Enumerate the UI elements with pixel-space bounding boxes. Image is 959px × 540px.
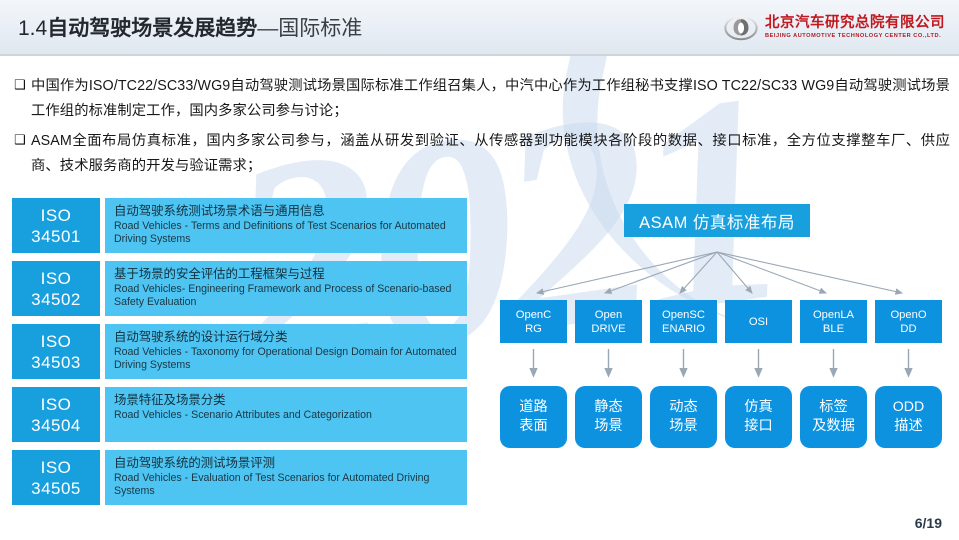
asam-standard-line2: DD (900, 323, 916, 335)
asam-standard-line2: ENARIO (662, 323, 705, 335)
asam-domain-line2: 描述 (894, 418, 922, 434)
asam-standard-line1: OSI (749, 316, 768, 328)
asam-standard-line2: DRIVE (591, 323, 625, 335)
iso-title-cn: 场景特征及场景分类 (114, 392, 459, 408)
fan-out-arrows (490, 236, 950, 306)
iso-org-label: ISO (41, 268, 72, 289)
iso-title-en: Road Vehicles- Engineering Framework and… (114, 283, 459, 309)
asam-standard-box[interactable]: OSI (725, 300, 792, 343)
iso-title-cn: 自动驾驶系统的测试场景评测 (114, 455, 459, 471)
iso-standards-table: ISO 34501 自动驾驶系统测试场景术语与通用信息 Road Vehicle… (12, 198, 467, 513)
page-title-number: 1.4 (18, 17, 47, 40)
bullet-text: 中国作为ISO/TC22/SC33/WG9自动驾驶测试场景国际标准工作组召集人，… (31, 74, 950, 124)
iso-code-cell: ISO 34503 (12, 324, 100, 379)
iso-number-label: 34502 (31, 289, 81, 310)
iso-title-en: Road Vehicles - Terms and Definitions of… (114, 220, 459, 246)
asam-domain-line1: 仿真 (744, 399, 772, 415)
asam-standard-box[interactable]: OpenCRG (500, 300, 567, 343)
iso-org-label: ISO (41, 205, 72, 226)
iso-number-label: 34505 (31, 478, 81, 499)
iso-description-cell: 自动驾驶系统测试场景术语与通用信息 Road Vehicles - Terms … (105, 198, 467, 253)
iso-number-label: 34504 (31, 415, 81, 436)
asam-standard-line1: OpenO (890, 309, 926, 321)
slide-header: 1.4自动驾驶场景发展趋势—国际标准 北京汽车研究总院有限公司 BEIJING … (0, 0, 959, 56)
asam-domain-box[interactable]: 仿真接口 (725, 386, 792, 448)
asam-domain-line2: 及数据 (812, 418, 855, 434)
logo-mark-icon (724, 11, 758, 45)
iso-code-cell: ISO 34502 (12, 261, 100, 316)
asam-standard-line2: RG (525, 323, 542, 335)
asam-domain-line2: 接口 (744, 418, 772, 434)
logo-company-en: BEIJING AUTOMOTIVE TECHNOLOGY CENTER CO.… (765, 34, 945, 40)
asam-domain-line2: 场景 (594, 418, 622, 434)
iso-number-label: 34503 (31, 352, 81, 373)
iso-org-label: ISO (41, 457, 72, 478)
iso-number-label: 34501 (31, 226, 81, 247)
iso-description-cell: 场景特征及场景分类 Road Vehicles - Scenario Attri… (105, 387, 467, 442)
asam-standard-line1: Open (595, 309, 622, 321)
asam-domain-line1: 道路 (519, 399, 547, 415)
table-row: ISO 34503 自动驾驶系统的设计运行域分类 Road Vehicles -… (12, 324, 467, 379)
asam-domain-line1: 静态 (594, 399, 622, 415)
down-arrows (490, 343, 950, 386)
asam-standard-box[interactable]: OpenODD (875, 300, 942, 343)
asam-domain-box[interactable]: 动态场景 (650, 386, 717, 448)
iso-title-cn: 自动驾驶系统的设计运行域分类 (114, 329, 459, 345)
asam-standard-box[interactable]: OpenDRIVE (575, 300, 642, 343)
iso-code-cell: ISO 34505 (12, 450, 100, 505)
bullet-list: ❑ 中国作为ISO/TC22/SC33/WG9自动驾驶测试场景国际标准工作组召集… (14, 74, 950, 184)
table-row: ISO 34505 自动驾驶系统的测试场景评测 Road Vehicles - … (12, 450, 467, 505)
iso-org-label: ISO (41, 331, 72, 352)
asam-diagram: ASAM 仿真标准布局 OpenCRG OpenDRIVE OpenSCENAR… (490, 196, 950, 496)
iso-title-en: Road Vehicles - Taxonomy for Operational… (114, 346, 459, 372)
asam-standard-line2: BLE (823, 323, 844, 335)
page-title-main: 自动驾驶场景发展趋势 (47, 17, 257, 40)
asam-standard-line1: OpenC (516, 309, 551, 321)
asam-domain-box[interactable]: 道路表面 (500, 386, 567, 448)
asam-domain-box[interactable]: 标签及数据 (800, 386, 867, 448)
asam-domain-line2: 表面 (519, 418, 547, 434)
iso-org-label: ISO (41, 394, 72, 415)
bullet-item: ❑ ASAM全面布局仿真标准，国内多家公司参与，涵盖从研发到验证、从传感器到功能… (14, 129, 950, 179)
iso-title-cn: 基于场景的安全评估的工程框架与过程 (114, 266, 459, 282)
asam-domain-line1: 标签 (819, 399, 847, 415)
asam-standard-line1: OpenLA (813, 309, 854, 321)
logo-text: 北京汽车研究总院有限公司 BEIJING AUTOMOTIVE TECHNOLO… (765, 16, 945, 39)
page-number: 6/19 (915, 515, 942, 531)
page-title-sub: —国际标准 (257, 17, 362, 40)
asam-standard-box[interactable]: OpenLABLE (800, 300, 867, 343)
iso-title-cn: 自动驾驶系统测试场景术语与通用信息 (114, 203, 459, 219)
asam-domain-box[interactable]: 静态场景 (575, 386, 642, 448)
asam-domain-box[interactable]: ODD描述 (875, 386, 942, 448)
iso-title-en: Road Vehicles - Evaluation of Test Scena… (114, 472, 459, 498)
table-row: ISO 34502 基于场景的安全评估的工程框架与过程 Road Vehicle… (12, 261, 467, 316)
asam-domain-line1: 动态 (669, 399, 697, 415)
bullet-text: ASAM全面布局仿真标准，国内多家公司参与，涵盖从研发到验证、从传感器到功能模块… (31, 129, 950, 179)
page-title: 1.4自动驾驶场景发展趋势—国际标准 (18, 12, 362, 42)
asam-domain-line1: ODD (893, 399, 925, 415)
iso-code-cell: ISO 34501 (12, 198, 100, 253)
company-logo: 北京汽车研究总院有限公司 BEIJING AUTOMOTIVE TECHNOLO… (724, 9, 945, 47)
table-row: ISO 34504 场景特征及场景分类 Road Vehicles - Scen… (12, 387, 467, 442)
asam-title-box: ASAM 仿真标准布局 (624, 204, 810, 237)
iso-code-cell: ISO 34504 (12, 387, 100, 442)
iso-title-en: Road Vehicles - Scenario Attributes and … (114, 409, 459, 422)
iso-description-cell: 自动驾驶系统的测试场景评测 Road Vehicles - Evaluation… (105, 450, 467, 505)
square-bullet-icon: ❑ (14, 129, 31, 153)
asam-standard-box[interactable]: OpenSCENARIO (650, 300, 717, 343)
iso-description-cell: 自动驾驶系统的设计运行域分类 Road Vehicles - Taxonomy … (105, 324, 467, 379)
asam-domain-line2: 场景 (669, 418, 697, 434)
asam-standard-line1: OpenSC (662, 309, 705, 321)
bullet-item: ❑ 中国作为ISO/TC22/SC33/WG9自动驾驶测试场景国际标准工作组召集… (14, 74, 950, 124)
iso-description-cell: 基于场景的安全评估的工程框架与过程 Road Vehicles- Enginee… (105, 261, 467, 316)
square-bullet-icon: ❑ (14, 74, 31, 98)
logo-company-cn: 北京汽车研究总院有限公司 (765, 16, 945, 31)
table-row: ISO 34501 自动驾驶系统测试场景术语与通用信息 Road Vehicle… (12, 198, 467, 253)
